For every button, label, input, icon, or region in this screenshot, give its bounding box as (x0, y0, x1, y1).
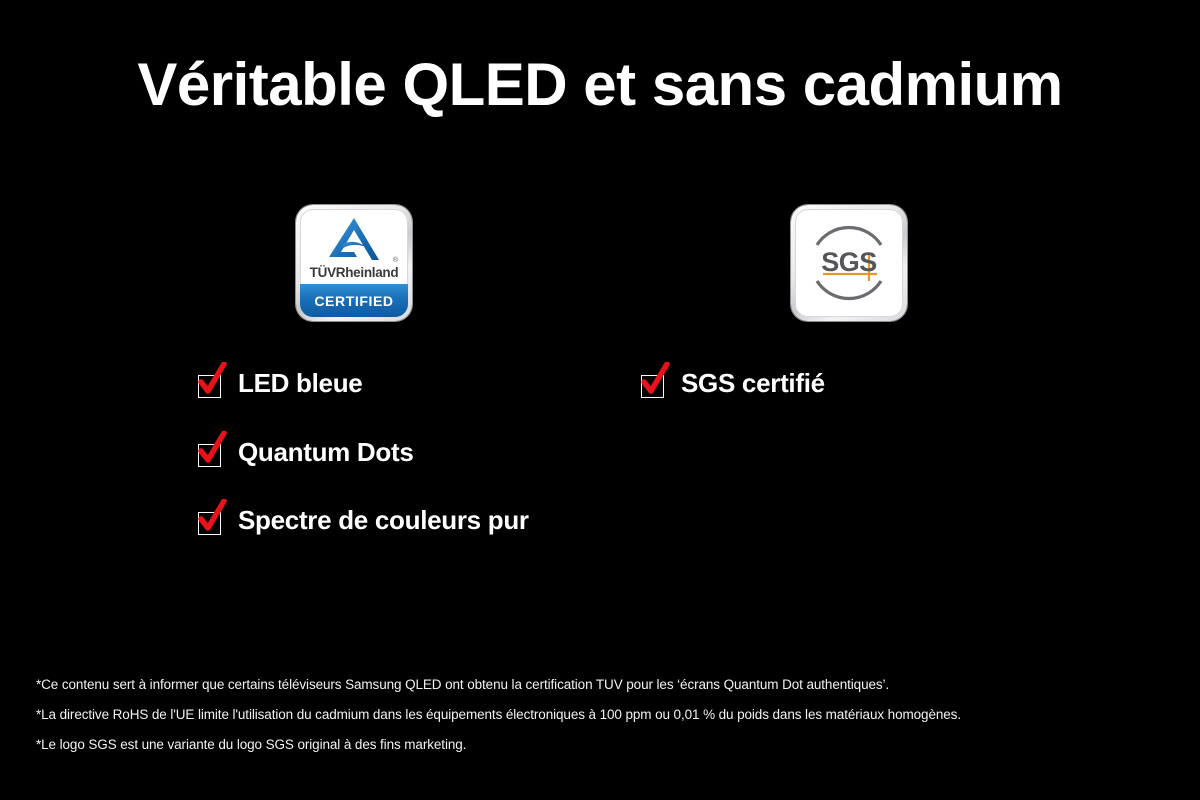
sgs-wordmark: SGS (795, 247, 903, 278)
footnote: *La directive RoHS de l'UE limite l'util… (36, 700, 1166, 730)
tuv-wordmark: TÜVRheinland (300, 265, 408, 280)
tuv-badge-face: ® TÜVRheinland CERTIFIED (300, 209, 408, 317)
list-item: Quantum Dots (196, 435, 414, 469)
list-item: Spectre de couleurs pur (196, 503, 529, 537)
list-item-label: LED bleue (238, 370, 362, 396)
sgs-badge: SGS (791, 205, 907, 321)
checked-checkbox-icon (196, 366, 230, 400)
checked-checkbox-icon (196, 503, 230, 537)
list-item-label: Quantum Dots (238, 439, 414, 465)
page-title: Véritable QLED et sans cadmium (0, 52, 1200, 118)
list-item: LED bleue (196, 366, 362, 400)
list-item-label: SGS certifié (681, 370, 825, 396)
sgs-badge-face: SGS (795, 209, 903, 317)
checked-checkbox-icon (639, 366, 673, 400)
tuv-rheinland-badge: ® TÜVRheinland CERTIFIED (296, 205, 412, 321)
tuv-certified-label: CERTIFIED (314, 293, 393, 309)
tuv-rheinland-triangle-icon (325, 216, 383, 269)
certification-badges: ® TÜVRheinland CERTIFIED SGS (0, 205, 1200, 323)
tuv-certified-banner: CERTIFIED (300, 284, 408, 317)
registered-mark: ® (393, 257, 398, 264)
footnote: *Ce contenu sert à informer que certains… (36, 670, 1166, 700)
promo-page: Véritable QLED et sans cadmium (0, 0, 1200, 800)
list-item-label: Spectre de couleurs pur (238, 507, 529, 533)
footnotes: *Ce contenu sert à informer que certains… (36, 670, 1166, 760)
footnote: *Le logo SGS est une variante du logo SG… (36, 730, 1166, 760)
checked-checkbox-icon (196, 435, 230, 469)
list-item: SGS certifié (639, 366, 825, 400)
